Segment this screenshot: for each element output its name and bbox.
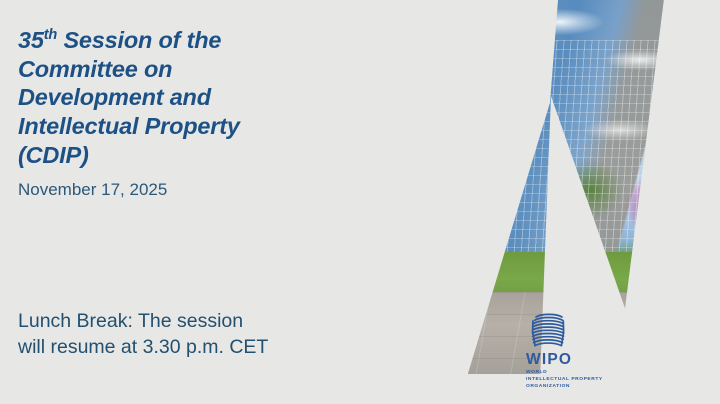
title-ordinal: 35 <box>18 27 44 53</box>
wipo-tagline-line1: WORLD <box>526 370 547 375</box>
text-column: 35th Session of theCommittee onDevelopme… <box>18 0 286 404</box>
title-line3: Development and <box>18 84 211 110</box>
notice-line2: will resume at 3.30 p.m. CET <box>18 336 268 358</box>
title-line4: Intellectual Property <box>18 113 240 139</box>
title-ordinal-suffix: th <box>44 27 57 43</box>
presentation-slide: 35th Session of theCommittee onDevelopme… <box>0 0 720 404</box>
page-title: 35th Session of theCommittee onDevelopme… <box>18 26 290 169</box>
wipo-tagline-line3: ORGANIZATION <box>526 384 570 389</box>
title-line2: Committee on <box>18 56 172 82</box>
notice-line1: Lunch Break: The session <box>18 310 243 332</box>
session-date: November 17, 2025 <box>18 180 167 200</box>
title-line1-rest: Session of the <box>57 27 221 53</box>
wipo-tagline-line2: INTELLECTUAL PROPERTY <box>526 377 603 382</box>
wipo-logo: WIPO WORLDINTELLECTUAL PROPERTYORGANIZAT… <box>526 311 636 391</box>
wipo-tagline: WORLDINTELLECTUAL PROPERTYORGANIZATION <box>526 369 636 391</box>
lunch-break-notice: Lunch Break: The sessionwill resume at 3… <box>18 308 318 360</box>
title-line5: (CDIP) <box>18 142 89 168</box>
wipo-wordmark: WIPO <box>526 352 636 368</box>
wipo-spiral-mark-icon <box>526 311 570 351</box>
